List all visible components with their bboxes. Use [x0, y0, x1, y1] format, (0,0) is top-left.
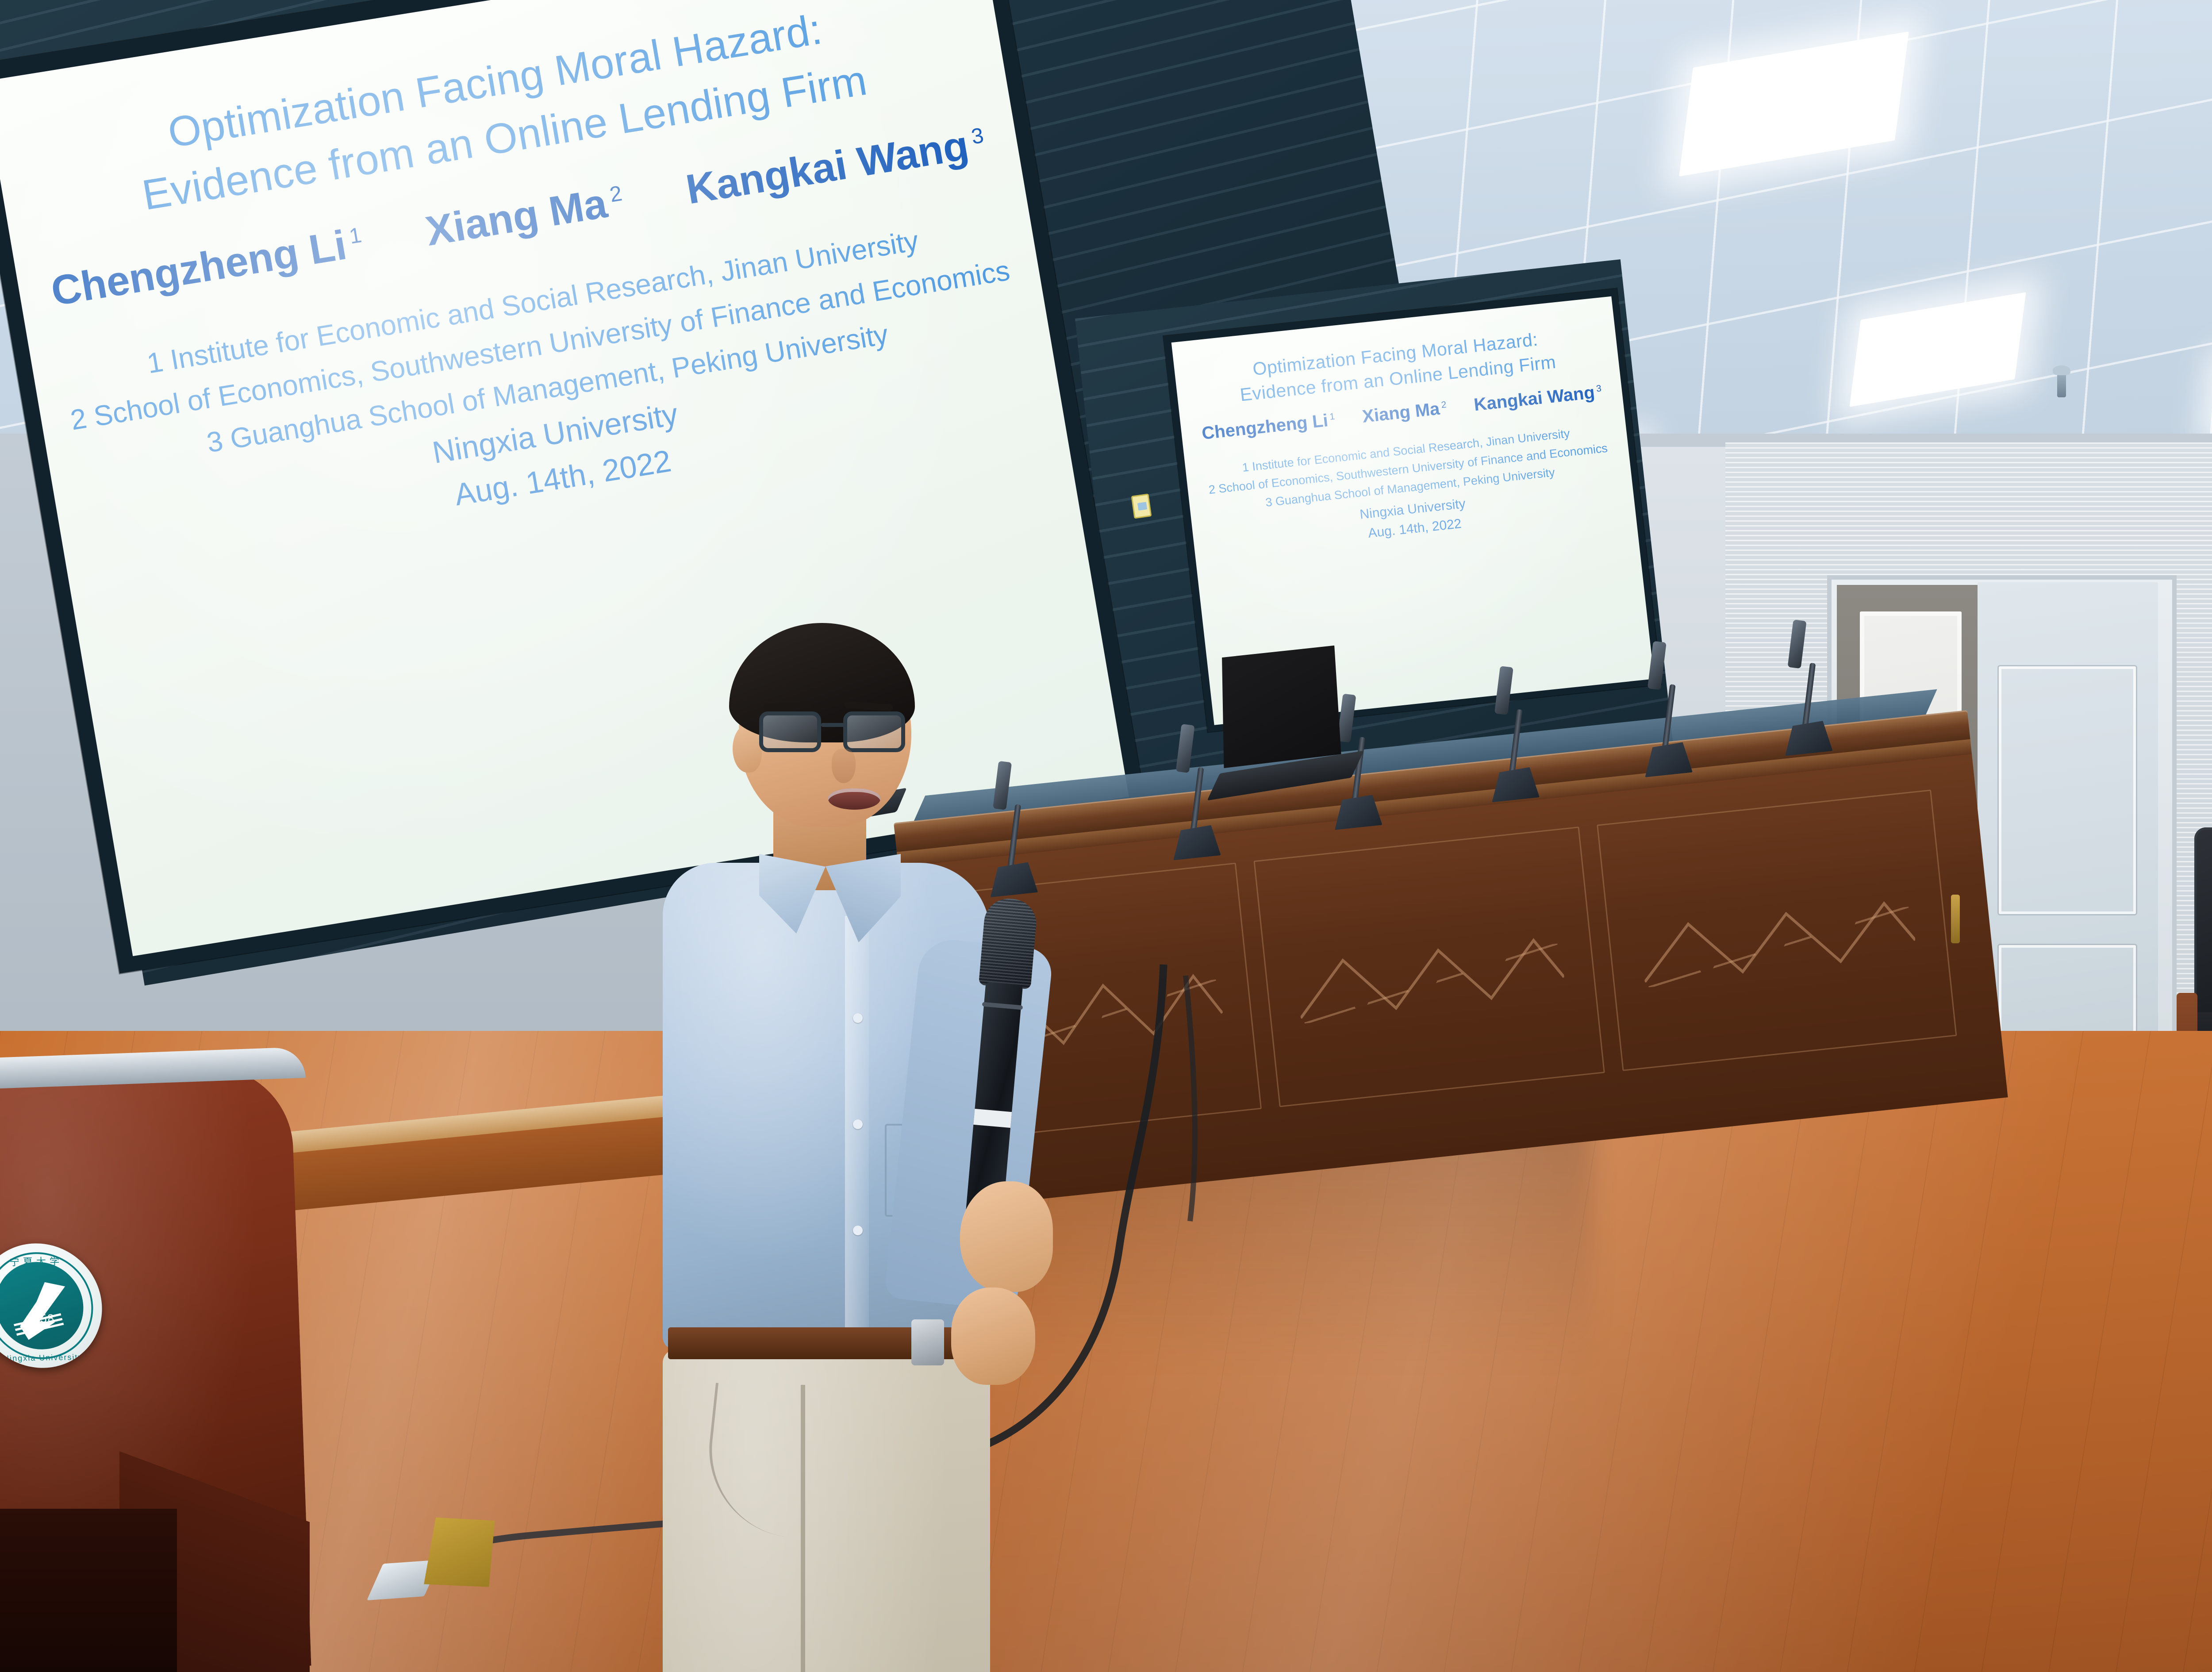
emblem-year: 1958	[0, 1311, 84, 1326]
wall-switch-plate[interactable]	[1131, 493, 1152, 519]
table-zigzag-inlay	[1294, 929, 1566, 1022]
shirt-button	[853, 1226, 863, 1235]
lectern-shadow-face	[0, 1509, 177, 1672]
shirt-button	[853, 1013, 863, 1023]
author-marker-3: 3	[1596, 383, 1602, 394]
presenter-hand-lower	[951, 1288, 1035, 1385]
author-marker-1: 1	[347, 223, 363, 249]
microphone-capsule	[1494, 666, 1513, 715]
table-panel-section	[1253, 826, 1605, 1107]
laptop-screen-lid	[1207, 640, 1352, 773]
microphone-label	[973, 1109, 1012, 1128]
microphone-gooseneck	[1802, 663, 1816, 729]
door-handle-icon[interactable]	[1951, 895, 1960, 943]
table-zigzag-inlay	[1638, 892, 1917, 986]
shirt-button	[853, 1119, 863, 1129]
microphone-capsule	[1176, 724, 1195, 773]
author-marker-2: 2	[608, 181, 624, 207]
microphone-capsule	[1788, 619, 1807, 669]
presenter-person	[655, 633, 1053, 1672]
brass-floor-outlet[interactable]	[371, 1513, 501, 1614]
microphone-base	[1642, 742, 1693, 777]
sprinkler-head	[2057, 372, 2066, 397]
author-name-1: Chengzheng Li	[48, 221, 350, 314]
microphone-base	[1782, 720, 1833, 756]
microphone-gooseneck	[1190, 767, 1204, 834]
eyeglass-lens-right	[843, 711, 905, 752]
microphone-base	[1170, 824, 1221, 860]
door-panel-top	[1999, 666, 2136, 914]
presenter-nose	[832, 749, 856, 783]
author-name-2: Xiang Ma	[1361, 399, 1441, 427]
eyeglass-lens-left	[759, 711, 821, 752]
emblem-chinese-name: 宁夏大学	[0, 1253, 99, 1269]
belt-buckle	[911, 1319, 944, 1365]
presenter-mouth	[828, 788, 880, 810]
conference-room-scene: Optimization Facing Moral Hazard: Eviden…	[0, 0, 2212, 1672]
conference-table	[894, 710, 2028, 1395]
lectern[interactable]: 1958 宁夏大学 Ningxia University	[0, 1053, 341, 1672]
table-panel-section	[1597, 789, 1957, 1071]
microphone-gooseneck	[1509, 709, 1522, 776]
author-name-2: Xiang Ma	[422, 180, 610, 254]
author-name-3: Kangkai Wang	[1473, 383, 1596, 415]
outlet-lid	[419, 1513, 499, 1591]
eyeglass-bridge	[821, 723, 844, 727]
author-name-1: Chengzheng Li	[1201, 411, 1329, 443]
microphone-base	[1332, 794, 1382, 830]
eyeglasses-icon	[759, 711, 905, 754]
microphone-gooseneck	[1662, 684, 1675, 750]
author-marker-1: 1	[1329, 411, 1335, 422]
author-marker-3: 3	[969, 123, 985, 149]
microphone-base	[1489, 766, 1540, 802]
microphone-capsule	[1647, 641, 1667, 690]
author-marker-2: 2	[1440, 400, 1447, 410]
presenter-laptop[interactable]	[1194, 638, 1363, 793]
presenter-hand-upper	[960, 1181, 1053, 1292]
author-name-3: Kangkai Wang	[683, 122, 972, 212]
microphone-grille-icon	[979, 896, 1038, 989]
